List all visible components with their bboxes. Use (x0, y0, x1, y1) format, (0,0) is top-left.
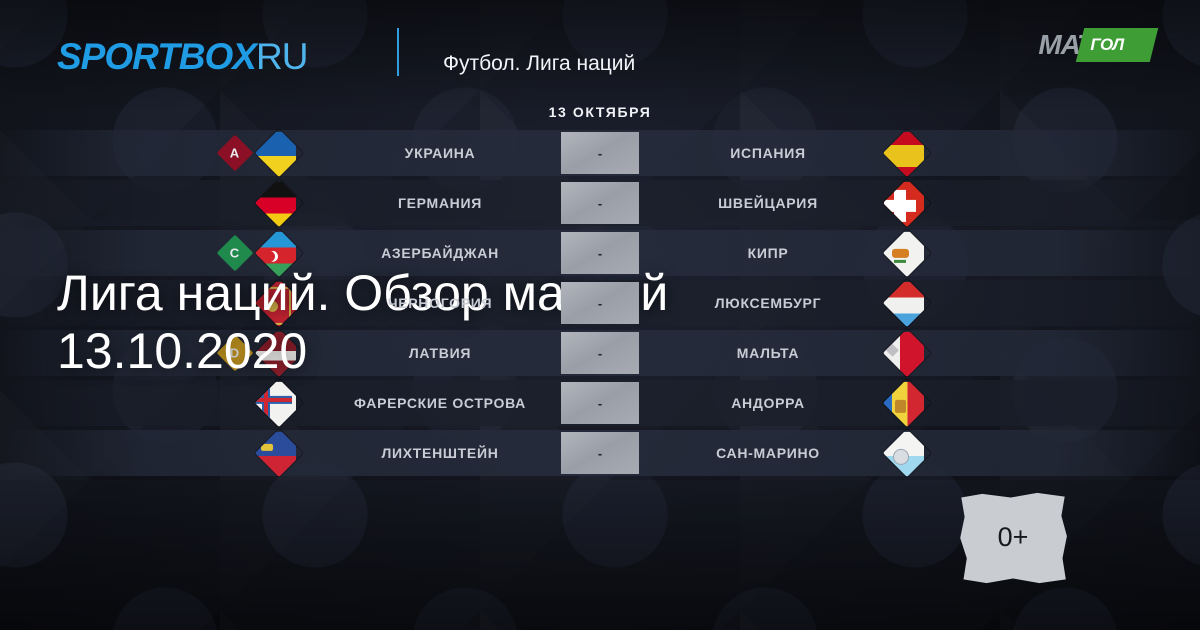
match-score: - (561, 182, 639, 224)
liechtenstein-flag (262, 436, 296, 470)
channel-logo: МАТЧ ГОЛ (1038, 28, 1112, 62)
league-badge: C (222, 240, 248, 266)
away-team-name: ИСПАНИЯ (648, 145, 888, 161)
match-row[interactable]: ФАРЕРСКИЕ ОСТРОВА-АНДОРРА (0, 378, 1200, 428)
home-team-name: ЛИХТЕНШТЕЙН (320, 445, 560, 461)
andorra-flag (890, 386, 924, 420)
headline: Лига наций. Обзор матчей 13.10.2020 (57, 264, 957, 380)
home-team-name: УКРАИНА (320, 145, 560, 161)
away-team-name: САН-МАРИНО (648, 445, 888, 461)
match-score: - (561, 332, 639, 374)
match-row[interactable]: ЛИХТЕНШТЕЙН-САН-МАРИНО (0, 428, 1200, 478)
age-rating-label: 0+ (958, 522, 1068, 553)
away-team-name: ЛЮКСЕМБУРГ (648, 295, 888, 311)
home-team-name: ЧЕРНОГОРИЯ (320, 295, 560, 311)
age-rating-badge: 0+ (958, 492, 1068, 584)
match-score: - (561, 282, 639, 324)
ukraine-flag (262, 136, 296, 170)
league-badge: A (222, 140, 248, 166)
header: SPORTBOXRU Футбол. Лига наций МАТЧ ГОЛ 1 (0, 0, 1200, 100)
match-row[interactable]: AУКРАИНА-ИСПАНИЯ (0, 128, 1200, 178)
sportbox-logo-main: SPORTBOX (57, 36, 256, 77)
spain-flag (890, 136, 924, 170)
header-subtitle: Футбол. Лига наций (443, 52, 635, 76)
home-team-name: АЗЕРБАЙДЖАН (320, 245, 560, 261)
promo-card: SPORTBOXRU Футбол. Лига наций МАТЧ ГОЛ 1… (0, 0, 1200, 630)
sanmarino-flag (890, 436, 924, 470)
home-team-name: ГЕРМАНИЯ (320, 195, 560, 211)
match-score: - (561, 432, 639, 474)
away-team-name: АНДОРРА (648, 395, 888, 411)
sportbox-logo[interactable]: SPORTBOXRU (57, 38, 307, 75)
match-score: - (561, 132, 639, 174)
match-score: - (561, 382, 639, 424)
faroe-islands-flag (262, 386, 296, 420)
away-team-name: МАЛЬТА (648, 345, 888, 361)
home-team-name: ФАРЕРСКИЕ ОСТРОВА (320, 395, 560, 411)
header-divider (397, 28, 399, 76)
home-team-name: ЛАТВИЯ (320, 345, 560, 361)
match-row[interactable]: ГЕРМАНИЯ-ШВЕЙЦАРИЯ (0, 178, 1200, 228)
sportbox-logo-suffix: RU (256, 36, 307, 77)
germany-flag (262, 186, 296, 220)
headline-line-1: Лига наций. Обзор матчей (57, 264, 957, 322)
away-team-name: КИПР (648, 245, 888, 261)
match-score: - (561, 232, 639, 274)
away-team-name: ШВЕЙЦАРИЯ (648, 195, 888, 211)
channel-band-label: ГОЛ (1090, 35, 1123, 55)
switzerland-flag (890, 186, 924, 220)
schedule-date: 13 ОКТЯБРЯ (0, 104, 1200, 128)
